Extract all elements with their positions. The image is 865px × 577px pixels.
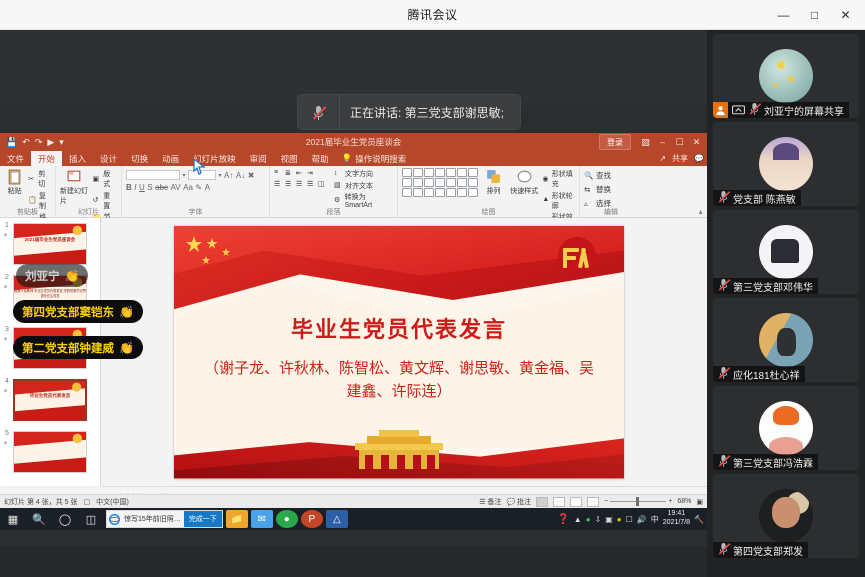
align-left-icon[interactable]: ☰	[274, 180, 283, 189]
slide-number: 5	[2, 430, 12, 437]
paste-button[interactable]: 粘贴	[4, 168, 25, 196]
columns-icon[interactable]: ◫	[318, 180, 327, 189]
shield-icon[interactable]: ●	[617, 515, 622, 524]
participant-badges: 刘亚宁的屏幕共享	[713, 102, 849, 118]
stars-decoration-icon	[184, 234, 254, 268]
ppt-restore-icon[interactable]: ☐	[671, 133, 688, 151]
align-center-icon[interactable]: ☰	[285, 180, 294, 189]
slide-number: 3	[2, 326, 12, 333]
start-icon[interactable]: ▦	[0, 508, 26, 530]
reaction-name: 第四党支部窦铠东	[22, 304, 114, 320]
comments-label: 批注	[517, 499, 531, 506]
tab-home[interactable]: 开始	[31, 151, 62, 166]
smartart-icon: ⚙	[334, 196, 343, 205]
slide-title: 毕业生党员代表发言	[174, 312, 624, 344]
bold-button[interactable]: B	[126, 183, 132, 192]
participant-badges: 第三党支部邓伟华	[713, 278, 818, 294]
reading-view-button[interactable]	[570, 497, 582, 507]
fit-to-window-icon[interactable]: ▣	[696, 498, 703, 506]
group-label-font: 字体	[122, 207, 269, 217]
find-label: 查找	[596, 170, 611, 181]
zoom-in-button[interactable]: +	[668, 498, 672, 505]
participant-name: 第四党支部郑发	[733, 543, 803, 558]
shared-screen-area: 正在讲话: 第三党支部谢思敏; 💾 ↶ ↷ ▶ ▾ 2021届毕业生党员座谈会 …	[0, 30, 707, 547]
mouse-cursor-icon	[192, 158, 206, 179]
find-button[interactable]: 🔍 查找	[584, 170, 611, 181]
ppt-title-bar: 💾 ↶ ↷ ▶ ▾ 2021届毕业生党员座谈会 登录 ▧ – ☐ ✕	[0, 133, 707, 151]
mic-muted-icon	[713, 277, 730, 294]
security-icon[interactable]: ●	[586, 515, 591, 524]
participant-name: 刘亚宁的屏幕共享	[764, 103, 844, 118]
shape-fill-button[interactable]: ◉ 形状填充	[542, 169, 575, 189]
quick-styles-icon	[516, 168, 533, 185]
copy-icon: 📋	[28, 196, 37, 205]
clear-formatting-icon[interactable]: ✖	[248, 171, 255, 180]
arrange-button[interactable]: 排列	[481, 168, 506, 196]
ppt-title-right: 登录 ▧ – ☐ ✕	[599, 133, 705, 151]
shadow-button[interactable]: S	[147, 183, 152, 192]
group-label-editing: 编辑	[580, 207, 642, 217]
slide-number: 2	[2, 274, 12, 281]
taskbar-clock[interactable]: 19:41 2021/7/8	[663, 510, 690, 528]
participant-tile-6[interactable]: 第四党支部郑发	[713, 474, 859, 558]
host-icon	[713, 102, 728, 118]
mic-muted-icon	[748, 101, 761, 118]
app-icon[interactable]: △	[326, 510, 348, 528]
text-direction-button[interactable]: ↕ 文字方向	[334, 169, 393, 179]
align-right-icon[interactable]: ☰	[296, 180, 305, 189]
cortana-icon[interactable]: ◯	[52, 508, 78, 530]
ppt-main-area: 1 ✦ 2021届毕业生党员座谈会 2 ✦ 最美人民教师 毕业生党员代表发言 学…	[0, 218, 707, 508]
slide-sorter-button[interactable]	[553, 497, 565, 507]
avatar	[759, 401, 813, 455]
participant-name: 应化181杜心祥	[733, 367, 800, 382]
avatar	[759, 225, 813, 279]
clock-date: 2021/7/8	[663, 519, 690, 528]
collapse-ribbon-icon[interactable]: ▲	[697, 209, 704, 216]
animation-star-icon: ✦	[3, 284, 8, 291]
slide-subtitle: （谢子龙、许秋林、陈智松、黄文辉、谢思敏、黄金福、吴建鑫、许际连）	[204, 357, 594, 402]
tab-transitions[interactable]: 切换	[124, 151, 155, 166]
cut-button[interactable]: ✂ 剪切	[28, 169, 51, 189]
tiananmen-illustration-icon	[319, 427, 479, 475]
new-slide-icon	[66, 168, 83, 185]
character-spacing-button[interactable]: AV	[171, 183, 181, 192]
comments-button[interactable]: 💬 批注	[507, 497, 532, 507]
new-slide-button[interactable]: 新建幻灯片	[60, 168, 89, 206]
thumb-title: 2021届毕业生党员座谈会	[14, 237, 86, 244]
active-speaker-label: 正在讲话: 第三党支部谢思敏;	[340, 104, 504, 121]
mail-icon[interactable]: ✉	[251, 510, 273, 528]
participant-name: 党支部 陈燕敏	[733, 191, 796, 206]
animation-star-icon: ✦	[3, 388, 8, 395]
replace-icon: ⇆	[584, 185, 593, 194]
clap-emoji-icon: 👏	[119, 341, 134, 355]
bullets-icon[interactable]: ≡	[274, 169, 283, 178]
active-speaker-banner: 正在讲话: 第三党支部谢思敏;	[297, 94, 521, 130]
slide-count-label: 幻灯片 第 4 张，共 5 张	[4, 497, 78, 507]
reaction-bubble-2: 第四党支部窦铠东 👏	[13, 300, 143, 323]
replace-label: 替换	[596, 184, 611, 195]
reaction-bubble-1: 刘亚宁 👏	[16, 264, 88, 287]
quick-styles-button[interactable]: 快速样式	[509, 168, 539, 196]
ribbon-display-options-icon[interactable]: ▧	[637, 133, 654, 151]
tab-review[interactable]: 审阅	[243, 151, 274, 166]
reset-icon: ↺	[92, 196, 101, 205]
participant-name: 第三党支部冯浩霖	[733, 455, 813, 470]
layout-button[interactable]: ▣ 版式	[92, 169, 117, 189]
file-explorer-icon[interactable]: 📁	[226, 510, 248, 528]
slide-thumbnail-1[interactable]: 1 ✦ 2021届毕业生党员座谈会	[0, 218, 100, 270]
group-label-clipboard: 剪贴板	[0, 207, 55, 217]
ppt-signin-button[interactable]: 登录	[599, 134, 631, 150]
animation-star-icon: ✦	[3, 232, 8, 239]
font-name-input[interactable]	[126, 170, 180, 180]
taskbar-item-action-button[interactable]: 完成一下	[184, 511, 222, 527]
language-label[interactable]: 中文(中国)	[96, 497, 129, 507]
slideshow-button[interactable]	[587, 497, 599, 507]
ribbon-group-editing: 🔍 查找 ⇆ 替换 ▵ 选择 编辑	[580, 166, 642, 218]
notes-icon: ☰	[479, 499, 485, 506]
tell-me-label: 操作说明搜索	[355, 153, 406, 165]
new-slide-label: 新建幻灯片	[60, 186, 89, 206]
ppt-minimize-icon[interactable]: –	[654, 133, 671, 151]
shrink-font-icon[interactable]: A↓	[236, 171, 245, 180]
tab-design[interactable]: 设计	[93, 151, 124, 166]
change-case-button[interactable]: Aa	[183, 183, 193, 192]
mic-muted-icon	[713, 365, 730, 382]
paste-icon	[6, 168, 23, 185]
mic-muted-icon	[713, 541, 730, 558]
reaction-name: 第二党支部钟建威	[22, 340, 114, 356]
align-text-label: 对齐文本	[345, 181, 373, 191]
text-highlight-icon[interactable]: ✎	[195, 183, 202, 192]
shape-outline-icon: ▲	[542, 196, 549, 205]
group-label-drawing: 绘图	[398, 207, 579, 217]
windows-taskbar: ▦ 🔍 ◯ ◫ 惊写15年前旧照… 完成一下 📁 ✉ ● P △ ❓ ▲ ● ⇩…	[0, 508, 707, 530]
participant-badges: 应化181杜心祥	[713, 366, 805, 382]
layout-label: 版式	[103, 169, 117, 189]
minimize-button[interactable]: —	[768, 0, 799, 30]
slide-number: 4	[2, 378, 12, 385]
meeting-body: 正在讲话: 第三党支部谢思敏; 💾 ↶ ↷ ▶ ▾ 2021届毕业生党员座谈会 …	[0, 30, 865, 577]
decrease-indent-icon[interactable]: ⇤	[296, 169, 305, 178]
avatar	[759, 489, 813, 543]
participant-badges: 党支部 陈燕敏	[713, 190, 801, 206]
ime-cn-icon[interactable]: 中	[651, 514, 659, 525]
zoom-knob[interactable]	[636, 497, 639, 506]
search-icon[interactable]: 🔍	[26, 508, 52, 530]
mic-muted-icon	[713, 453, 730, 470]
ppt-tabs-right: ↗ 共享 💬	[659, 151, 704, 166]
text-direction-icon: ↕	[334, 170, 343, 179]
slide-canvas[interactable]: 毕业生党员代表发言 （谢子龙、许秋林、陈智松、黄文辉、谢思敏、黄金福、吴建鑫、许…	[101, 218, 697, 486]
ppt-close-icon[interactable]: ✕	[688, 133, 705, 151]
participant-tile-2[interactable]: 党支部 陈燕敏	[713, 122, 859, 206]
align-text-icon: ▧	[334, 181, 343, 190]
help-icon[interactable]: ❓	[557, 514, 569, 525]
app-title-bar: 腾讯会议 — □ ✕	[0, 0, 865, 30]
action-center-icon[interactable]: 🔨	[694, 515, 704, 524]
screen-share-icon	[731, 105, 745, 116]
group-label-paragraph: 段落	[270, 207, 397, 217]
replace-button[interactable]: ⇆ 替换	[584, 184, 611, 195]
mic-muted-icon	[713, 189, 730, 206]
ribbon-group-slides: 新建幻灯片 ▣ 版式 ↺ 重置 📁	[56, 166, 122, 218]
notes-button[interactable]: ☰ 备注	[479, 497, 501, 507]
volume-icon[interactable]: 🔊	[637, 515, 647, 524]
participant-badges: 第四党支部郑发	[713, 542, 808, 558]
taskbar-item-label: 惊写15年前旧照…	[121, 514, 184, 524]
zoom-slider[interactable]: − +	[604, 498, 672, 505]
tab-help[interactable]: 帮助	[305, 151, 336, 166]
numbering-icon[interactable]: ≣	[285, 169, 294, 178]
grow-font-icon[interactable]: A↑	[224, 171, 233, 180]
shapes-gallery[interactable]	[402, 168, 478, 197]
avatar	[759, 49, 813, 103]
participant-tile-4[interactable]: 应化181杜心祥	[713, 298, 859, 382]
animation-star-icon: ✦	[3, 440, 8, 447]
comment-icon: 💬	[507, 499, 516, 506]
shape-fill-icon: ◉	[542, 175, 549, 184]
network-share-icon[interactable]: ▣	[605, 515, 613, 524]
font-color-icon[interactable]: A	[205, 183, 210, 192]
zoom-out-button[interactable]: −	[604, 498, 608, 505]
avatar	[759, 313, 813, 367]
quick-styles-label: 快速样式	[510, 186, 538, 196]
slide-content[interactable]: 毕业生党员代表发言 （谢子龙、许秋林、陈智松、黄文辉、谢思敏、黄金福、吴建鑫、许…	[174, 226, 624, 479]
participant-tile-3[interactable]: 第三党支部邓伟华	[713, 210, 859, 294]
participant-tile-5[interactable]: 第三党支部冯浩霖	[713, 386, 859, 470]
chevron-up-icon[interactable]: ▲	[574, 515, 582, 524]
tab-animations[interactable]: 动画	[155, 151, 186, 166]
share-icon[interactable]: ↗	[659, 154, 666, 163]
lightbulb-icon: 💡	[342, 153, 353, 164]
text-direction-label: 文字方向	[345, 169, 373, 179]
increase-indent-icon[interactable]: ⇥	[307, 169, 316, 178]
search-icon: 🔍	[584, 171, 593, 180]
participant-sidebar[interactable]: 刘亚宁的屏幕共享 党支部 陈燕敏 第三党支部邓伟华	[707, 30, 865, 577]
close-button[interactable]: ✕	[830, 0, 861, 30]
thumb-title: 毕业生党员代表发言	[15, 393, 85, 400]
participant-badges: 第三党支部冯浩霖	[713, 454, 818, 470]
accessibility-icon[interactable]: ▢	[84, 498, 91, 506]
app-title: 腾讯会议	[407, 6, 457, 23]
internet-explorer-icon	[107, 514, 121, 525]
tab-view[interactable]: 视图	[274, 151, 305, 166]
window-controls: — □ ✕	[768, 0, 861, 30]
italic-button[interactable]: I	[134, 183, 136, 192]
comment-icon[interactable]: 💬	[694, 154, 704, 163]
tab-insert[interactable]: 插入	[62, 151, 93, 166]
avatar	[759, 137, 813, 191]
justify-icon[interactable]: ☰	[307, 180, 316, 189]
slide-thumbnail-5[interactable]: 5 ✦	[0, 426, 100, 478]
strikethrough-button[interactable]: abc	[155, 183, 168, 192]
shape-fill-label: 形状填充	[552, 169, 575, 189]
cut-label: 剪切	[38, 169, 51, 189]
ribbon-group-clipboard: 粘贴 ✂ 剪切 📋 复制 🖌	[0, 166, 56, 218]
slide-thumbnail-4[interactable]: 4 ✦ 毕业生党员代表发言	[0, 374, 100, 426]
notes-icon[interactable]: ☐	[626, 515, 633, 524]
thumb-title: 最美人民教师 毕业生党员代表发言 学院党委书记寄语毕业生党员	[14, 289, 86, 299]
mic-muted-icon	[298, 94, 340, 130]
task-view-icon[interactable]: ◫	[78, 508, 104, 530]
animation-star-icon: ✦	[3, 336, 8, 343]
normal-view-button[interactable]	[536, 497, 548, 507]
clock-time: 19:41	[663, 510, 690, 519]
arrange-label: 排列	[487, 186, 501, 196]
browser-icon[interactable]: ●	[276, 510, 298, 528]
maximize-button[interactable]: □	[799, 0, 830, 30]
arrange-icon	[485, 168, 502, 185]
ribbon-group-paragraph: ≡≣⇤⇥ ☰☰☰☰◫ ↕ 文字方向 ▧ 对齐文本	[270, 166, 398, 218]
reaction-bubble-3: 第二党支部钟建威 👏	[13, 336, 143, 359]
ppt-ribbon: 粘贴 ✂ 剪切 📋 复制 🖌	[0, 166, 707, 218]
clap-emoji-icon: 👏	[65, 269, 80, 283]
reaction-name: 刘亚宁	[25, 268, 60, 284]
group-label-slides: 幻灯片	[56, 207, 121, 217]
notes-label: 备注	[488, 499, 502, 506]
slide-number: 1	[2, 222, 12, 229]
taskbar-item-internet-explorer[interactable]: 惊写15年前旧照… 完成一下	[106, 510, 223, 528]
underline-button[interactable]: U	[139, 183, 145, 192]
zoom-level-label[interactable]: 68%	[677, 498, 691, 505]
ribbon-group-drawing: 排列 快速样式 ◉ 形状填充	[398, 166, 580, 218]
paste-label: 粘贴	[8, 186, 22, 196]
tell-me-search[interactable]: 💡 操作说明搜索	[336, 151, 407, 166]
party-emblem-icon	[550, 234, 604, 282]
scissors-icon: ✂	[28, 175, 36, 184]
align-text-button[interactable]: ▧ 对齐文本	[334, 181, 393, 191]
system-tray: ❓ ▲ ● ⇩ ▣ ● ☐ 🔊 中 19:41 2021/7/8 🔨	[557, 510, 707, 528]
clap-emoji-icon: 👏	[119, 305, 134, 319]
layout-icon: ▣	[92, 175, 101, 184]
participant-name: 第三党支部邓伟华	[733, 279, 813, 294]
ppt-status-bar: 幻灯片 第 4 张，共 5 张 ▢ 中文(中国) ☰ 备注 💬 批注 −	[0, 494, 707, 508]
participant-tile-1[interactable]: 刘亚宁的屏幕共享	[713, 34, 859, 118]
powerpoint-icon[interactable]: P	[301, 510, 323, 528]
tab-file[interactable]: 文件	[0, 151, 31, 166]
share-label[interactable]: 共享	[672, 153, 688, 164]
ppt-ribbon-tabs: 文件 开始 插入 设计 切换 动画 幻灯片放映 审阅 视图 帮助 💡 操作说明搜…	[0, 151, 707, 166]
download-icon[interactable]: ⇩	[595, 515, 602, 524]
